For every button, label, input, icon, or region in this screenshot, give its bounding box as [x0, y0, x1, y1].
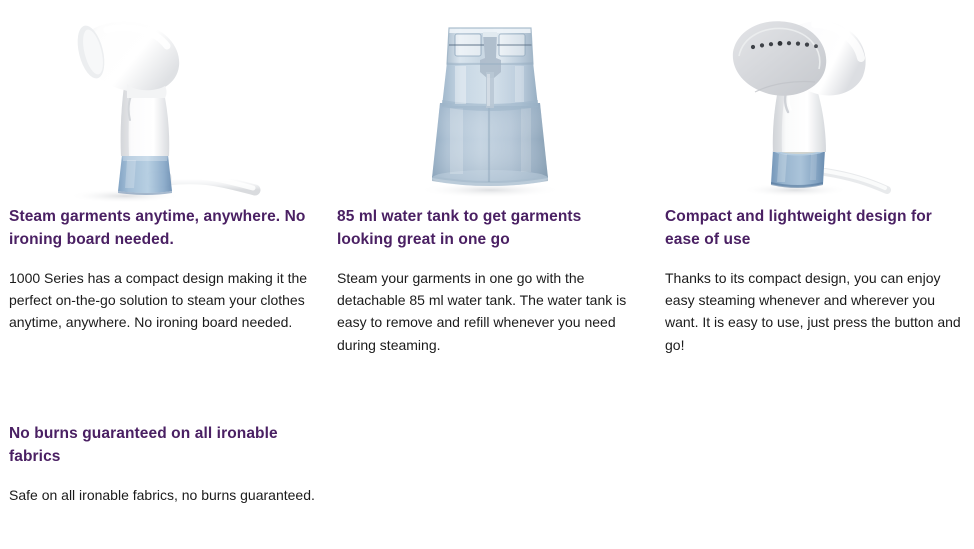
- feature-body: Thanks to its compact design, you can en…: [665, 267, 972, 356]
- spacer: [9, 468, 316, 484]
- feature-card-4: No burns guaranteed on all ironable fabr…: [9, 422, 316, 506]
- feature-body: Safe on all ironable fabrics, no burns g…: [9, 484, 316, 506]
- feature-heading: Compact and lightweight design for ease …: [665, 205, 965, 251]
- feature-body: Steam your garments in one go with the d…: [337, 267, 644, 356]
- steamer-angled-view-image: [665, 0, 972, 205]
- steamer-side-view-image: [9, 0, 316, 205]
- feature-heading: No burns guaranteed on all ironable fabr…: [9, 422, 309, 468]
- feature-grid: Steam garments anytime, anywhere. No iro…: [9, 0, 974, 356]
- feature-heading: 85 ml water tank to get garments looking…: [337, 205, 637, 251]
- feature-card-1: Steam garments anytime, anywhere. No iro…: [9, 0, 316, 356]
- detachable-water-tank-image: [337, 0, 644, 205]
- spacer: [337, 251, 644, 267]
- spacer: [665, 251, 972, 267]
- feature-card-2: 85 ml water tank to get garments looking…: [337, 0, 644, 356]
- spacer: [9, 251, 316, 267]
- feature-page: Steam garments anytime, anywhere. No iro…: [0, 0, 974, 549]
- feature-card-3: Compact and lightweight design for ease …: [665, 0, 972, 356]
- feature-body: 1000 Series has a compact design making …: [9, 267, 316, 334]
- feature-heading: Steam garments anytime, anywhere. No iro…: [9, 205, 309, 251]
